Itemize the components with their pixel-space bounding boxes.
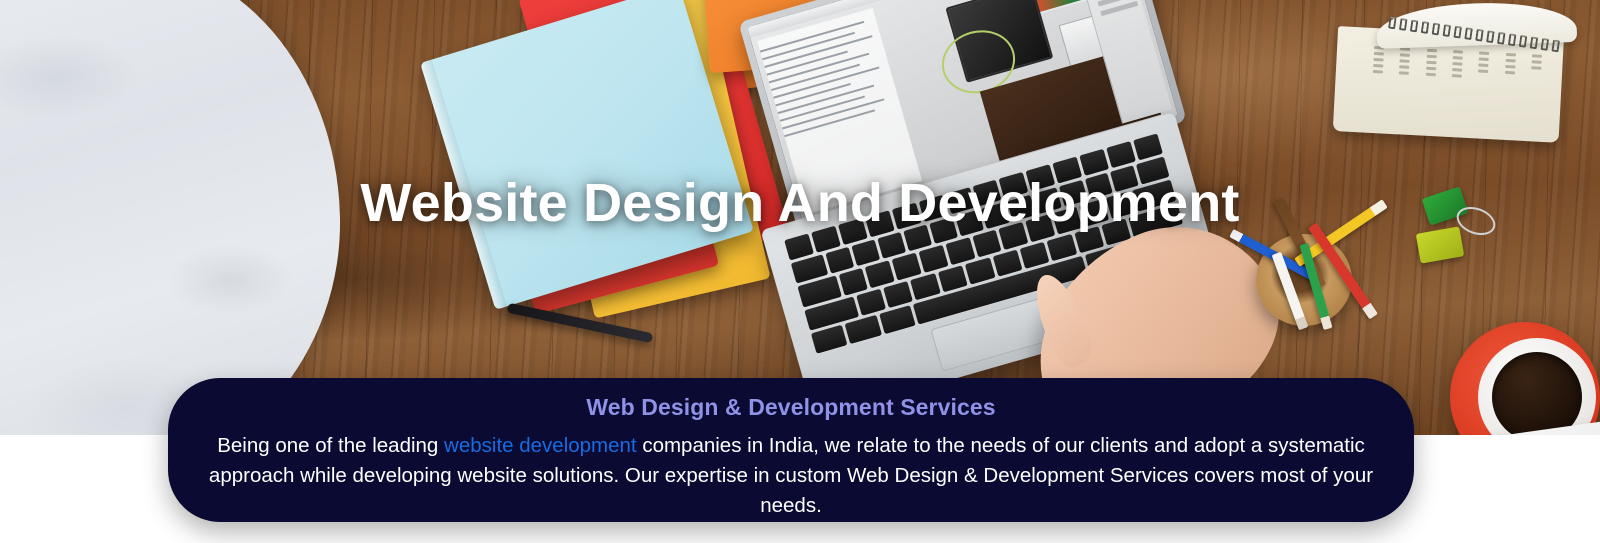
spiral-desk-calendar xyxy=(1327,0,1574,148)
coffee-liquid xyxy=(1492,352,1582,435)
calendar-date-mark xyxy=(1373,64,1383,68)
services-info-card: Web Design & Development Services Being … xyxy=(168,378,1414,522)
keyboard-key xyxy=(910,273,940,300)
keyboard-key xyxy=(879,305,916,334)
calendar-date-mark xyxy=(1425,73,1435,77)
calendar-date-grid xyxy=(1364,46,1549,125)
keyboard-key xyxy=(784,233,814,260)
calendar-date-mark xyxy=(1478,69,1488,73)
page-root: Website Design And Development Web Desig… xyxy=(0,0,1600,543)
calendar-date-mark xyxy=(1453,50,1463,54)
keyboard-key xyxy=(826,247,855,274)
keyboard-key xyxy=(938,265,968,292)
keyboard-key xyxy=(878,232,907,259)
spiral-coil xyxy=(1508,33,1517,46)
keyboard-key xyxy=(1019,241,1049,268)
hero-title: Website Design And Development xyxy=(0,172,1600,234)
calendar-date-mark xyxy=(1505,71,1515,75)
calendar-column xyxy=(1390,47,1417,118)
calendar-date-mark xyxy=(1399,65,1409,69)
calendar-date-mark xyxy=(1452,74,1462,78)
spiral-coil xyxy=(1410,20,1419,33)
calendar-date-mark xyxy=(1532,54,1542,58)
keyboard-key xyxy=(856,288,886,315)
spiral-coil xyxy=(1519,35,1528,48)
keyboard-key xyxy=(945,238,975,265)
calendar-date-mark xyxy=(1400,59,1410,63)
calendar-date-mark xyxy=(1532,66,1542,70)
hero-banner-image: Website Design And Development xyxy=(0,0,1600,435)
website-development-link[interactable]: website development xyxy=(444,434,637,457)
calendar-date-mark xyxy=(1373,70,1383,74)
services-card-heading: Web Design & Development Services xyxy=(208,394,1374,421)
calendar-date-mark xyxy=(1479,64,1489,68)
calendar-date-mark xyxy=(1506,53,1516,57)
keyboard-key xyxy=(865,261,895,288)
calendar-column xyxy=(1364,46,1391,117)
calendar-date-mark xyxy=(1505,59,1515,63)
calendar-date-mark xyxy=(1373,52,1383,56)
keyboard-key xyxy=(992,249,1022,276)
calendar-date-mark xyxy=(1400,53,1410,57)
spiral-coil xyxy=(1541,38,1550,51)
spiral-coil xyxy=(1388,17,1397,30)
calendar-date-mark xyxy=(1479,52,1489,56)
calendar-date-mark xyxy=(1479,58,1489,62)
keyboard-key xyxy=(811,324,848,353)
calendar-column xyxy=(1443,50,1470,121)
spiral-coil xyxy=(1551,39,1560,52)
calendar-date-mark xyxy=(1505,65,1515,69)
keyboard-key xyxy=(892,253,922,280)
services-card-body: Being one of the leading website develop… xyxy=(208,431,1374,521)
keyboard-key xyxy=(852,240,881,267)
calendar-date-mark xyxy=(1452,62,1462,66)
calendar-date-mark xyxy=(1426,55,1436,59)
spiral-coil xyxy=(1497,32,1506,45)
keyboard-key xyxy=(972,230,1002,257)
spiral-coil xyxy=(1530,36,1539,49)
calendar-date-mark xyxy=(1532,60,1542,64)
spiral-coil xyxy=(1443,24,1452,37)
keyboard-key xyxy=(839,268,869,295)
spiral-coil xyxy=(1464,27,1473,40)
calendar-date-mark xyxy=(1399,71,1409,75)
calendar-column xyxy=(1496,53,1523,124)
calendar-column xyxy=(1522,54,1549,125)
spiral-coil xyxy=(1486,30,1495,43)
keyboard-key xyxy=(845,315,882,344)
calendar-date-mark xyxy=(1426,67,1436,71)
calendar-column xyxy=(1469,51,1496,122)
calendar-date-mark xyxy=(1373,58,1383,62)
spiral-coil xyxy=(1453,26,1462,39)
calendar-date-mark xyxy=(1427,49,1437,53)
keyboard-key xyxy=(919,245,949,272)
keyboard-key xyxy=(1047,234,1077,261)
spiral-coil xyxy=(1399,18,1408,31)
body-text-before-link: Being one of the leading xyxy=(217,434,444,457)
calendar-date-mark xyxy=(1453,56,1463,60)
spiral-coil xyxy=(1421,21,1430,34)
spiral-coil xyxy=(1475,29,1484,42)
calendar-column xyxy=(1416,48,1443,119)
spiral-coil xyxy=(1432,23,1441,36)
keyboard-key xyxy=(1106,141,1136,168)
calendar-date-mark xyxy=(1426,61,1436,65)
keyboard-key xyxy=(965,257,995,284)
keyboard-key xyxy=(1133,133,1163,160)
keyboard-key xyxy=(883,280,913,307)
calendar-date-mark xyxy=(1452,68,1462,72)
